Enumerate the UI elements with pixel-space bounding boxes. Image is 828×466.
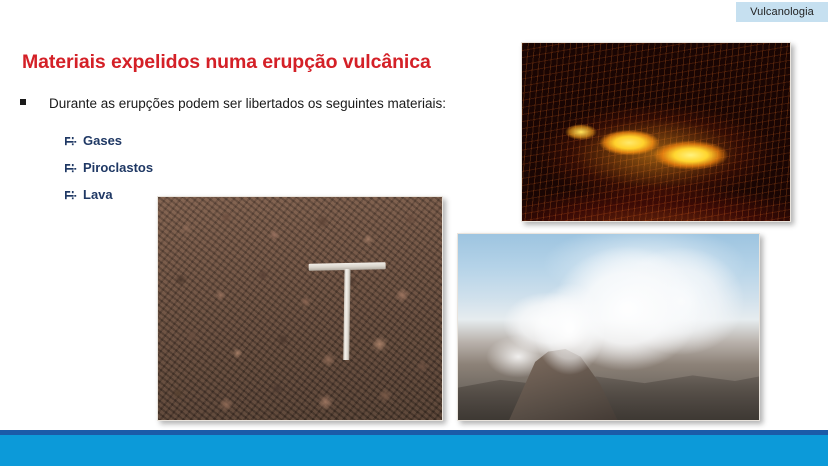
topic-badge: Vulcanologia bbox=[736, 2, 828, 22]
main-bullet-label: Durante as erupções podem ser libertados… bbox=[49, 96, 446, 111]
hammer-handle-icon bbox=[343, 269, 351, 361]
pyroclasts-image bbox=[158, 197, 442, 420]
materials-sub-list: Gases Piroclastos Lava bbox=[64, 134, 153, 215]
wingding-bullet-icon bbox=[64, 135, 77, 148]
list-item-label: Gases bbox=[83, 134, 122, 148]
list-item-label: Lava bbox=[83, 188, 113, 202]
wingding-bullet-icon bbox=[64, 162, 77, 175]
footer-stripe-light bbox=[0, 435, 828, 466]
volcanic-gases-photo bbox=[457, 233, 760, 421]
lava-lake-image bbox=[522, 43, 790, 221]
footer-bar bbox=[0, 430, 828, 466]
main-bullet-item: Durante as erupções podem ser libertados… bbox=[20, 96, 446, 111]
pyroclasts-photo bbox=[157, 196, 443, 421]
presentation-slide: Vulcanologia Materiais expelidos numa er… bbox=[0, 0, 828, 466]
volcanic-gases-image bbox=[458, 234, 759, 420]
list-item-label: Piroclastos bbox=[83, 161, 153, 175]
list-item-piroclastos: Piroclastos bbox=[64, 161, 153, 175]
page-title: Materiais expelidos numa erupção vulcâni… bbox=[22, 51, 431, 74]
wingding-bullet-icon bbox=[64, 189, 77, 202]
list-item-lava: Lava bbox=[64, 188, 153, 202]
topic-badge-label: Vulcanologia bbox=[750, 6, 814, 18]
square-bullet-icon bbox=[20, 99, 26, 105]
lava-lake-photo bbox=[521, 42, 791, 222]
steam-plume bbox=[524, 260, 614, 375]
list-item-gases: Gases bbox=[64, 134, 153, 148]
